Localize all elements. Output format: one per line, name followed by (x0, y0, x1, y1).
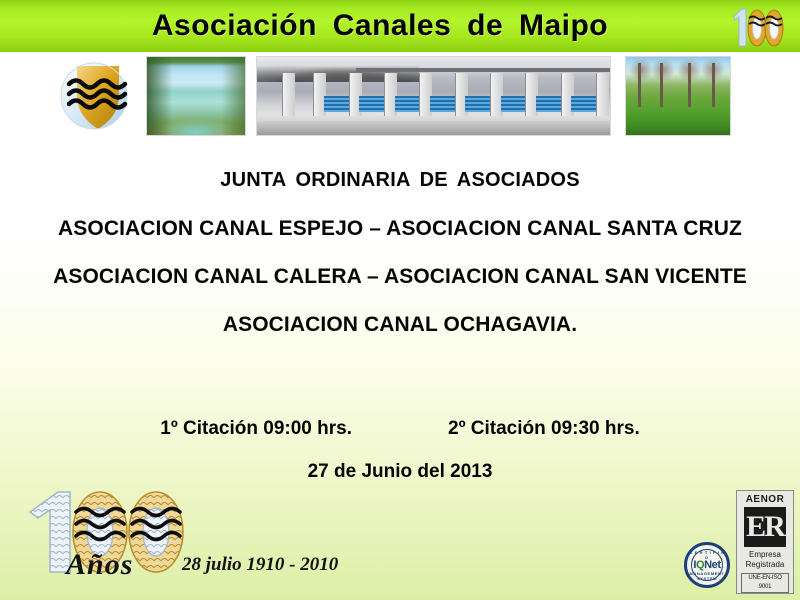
citation-row: 1º Citación 09:00 hrs.2º Citación 09:30 … (0, 418, 800, 440)
centenary-100-icon (724, 4, 786, 50)
meeting-heading: JUNTA ORDINARIA DE ASOCIADOS (0, 169, 800, 192)
iqnet-letter-net: Net (704, 559, 721, 571)
dam-deck (356, 68, 610, 72)
iqnet-wordmark: IQNet (687, 559, 727, 571)
aenor-subtitle-line-1: Empresa (737, 550, 793, 560)
association-line-1: ASOCIACION CANAL ESPEJO – ASOCIACION CAN… (0, 217, 800, 241)
aenor-subtitle: Empresa Registrada (737, 550, 793, 570)
association-line-2: ASOCIACION CANAL CALERA – ASOCIACION CAN… (0, 265, 800, 289)
page-title: Asociación Canales de Maipo (0, 4, 760, 48)
dam-bank (257, 121, 610, 135)
slide-canvas: Asociación Canales de Maipo (0, 0, 800, 600)
citation-second: 2º Citación 09:30 hrs. (448, 418, 640, 439)
header-band: Asociación Canales de Maipo (0, 0, 800, 52)
centenary-anos-label: Años (66, 548, 133, 582)
centenary-logo: Años 28 julio 1910 - 2010 (14, 486, 364, 594)
iqnet-letter-q: Q (696, 559, 704, 571)
aenor-standard: UNE-EN-ISO 9001 (741, 573, 789, 593)
association-water-shield-logo (55, 56, 133, 136)
photo-canal (146, 56, 246, 136)
iqnet-badge: C E R T I F I E D IQNet MANAGEMENT SYSTE… (684, 542, 730, 588)
photo-strip (0, 56, 800, 138)
association-line-3: ASOCIACION CANAL OCHAGAVIA. (0, 313, 800, 337)
photo-dam (256, 56, 611, 136)
centenary-dates: 28 julio 1910 - 2010 (182, 554, 338, 576)
certification-badges: C E R T I F I E D IQNet MANAGEMENT SYSTE… (682, 482, 794, 594)
aenor-badge: AENOR ER Empresa Registrada UNE-EN-ISO 9… (736, 490, 794, 594)
aenor-er-monogram: ER (744, 507, 786, 547)
aenor-title: AENOR (737, 494, 793, 505)
iqnet-arc-bottom: MANAGEMENT SYSTEM (687, 571, 727, 581)
meeting-date: 27 de Junio del 2013 (0, 461, 800, 483)
aenor-subtitle-line-2: Registrada (737, 560, 793, 570)
citation-first: 1º Citación 09:00 hrs. (160, 418, 352, 439)
photo-orchard (625, 56, 731, 136)
